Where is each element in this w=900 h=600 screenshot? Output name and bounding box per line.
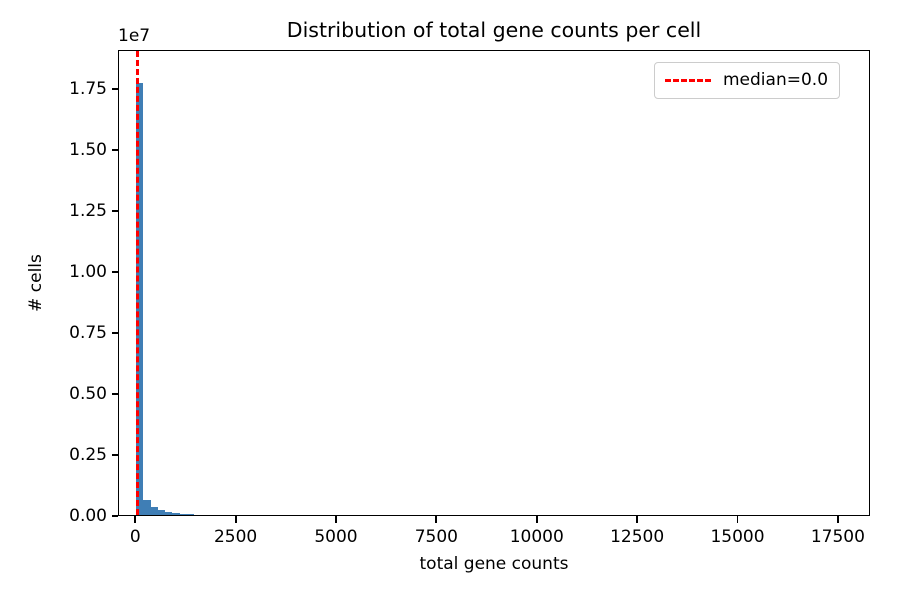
y-tick-mark: [112, 88, 119, 90]
x-tick-mark: [335, 516, 337, 523]
chart-title: Distribution of total gene counts per ce…: [118, 18, 870, 42]
x-tick-mark: [134, 516, 136, 523]
plot-surface: [119, 51, 869, 515]
legend-median-label: median=0.0: [723, 70, 828, 91]
median-line-marker: [136, 51, 139, 515]
x-tick-mark: [435, 516, 437, 523]
figure-canvas: Distribution of total gene counts per ce…: [0, 0, 900, 600]
y-tick-label: 1.50: [69, 139, 107, 161]
histogram-bar: [158, 510, 165, 515]
x-tick-mark: [837, 516, 839, 523]
histogram-bar: [187, 514, 194, 515]
y-tick-label: 1.75: [69, 78, 107, 100]
histogram-bar: [172, 513, 179, 515]
x-tick-mark: [536, 516, 538, 523]
y-tick-label: 0.00: [69, 505, 107, 527]
y-tick-mark: [112, 149, 119, 151]
legend-median-line-icon: [665, 79, 711, 82]
y-tick-mark: [112, 332, 119, 334]
histogram-bar: [180, 514, 187, 515]
plot-axes: [118, 50, 870, 516]
histogram-bar: [151, 507, 158, 515]
y-axis-offset-text: 1e7: [118, 26, 150, 46]
y-tick-mark: [112, 515, 119, 517]
y-tick-mark: [112, 210, 119, 212]
histogram-bar: [143, 500, 150, 515]
y-tick-mark: [112, 393, 119, 395]
x-tick-label: 17500: [778, 526, 898, 548]
y-axis-label: # cells: [24, 50, 48, 516]
x-tick-mark: [636, 516, 638, 523]
histogram-bar: [165, 512, 172, 515]
y-tick-mark: [112, 454, 119, 456]
x-tick-mark: [235, 516, 237, 523]
legend-box: median=0.0: [654, 62, 840, 99]
y-tick-label: 0.50: [69, 383, 107, 405]
x-tick-mark: [737, 516, 739, 523]
x-axis-label: total gene counts: [118, 553, 870, 575]
y-tick-mark: [112, 271, 119, 273]
y-tick-label: 0.75: [69, 322, 107, 344]
y-tick-label: 1.25: [69, 200, 107, 222]
y-tick-label: 0.25: [69, 444, 107, 466]
y-tick-label: 1.00: [69, 261, 107, 283]
